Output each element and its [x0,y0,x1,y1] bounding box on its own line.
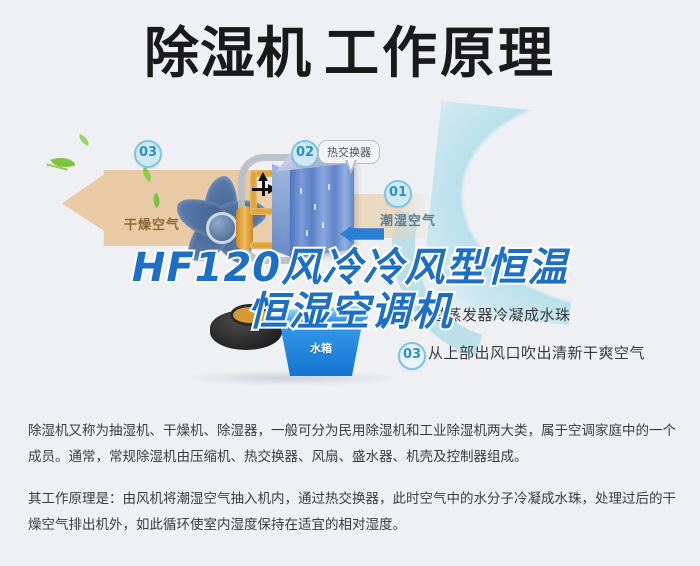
step-caption-02: 气经过蒸发器冷凝成水珠 [400,304,571,325]
description-paragraph-1: 除湿机又称为抽湿机、干燥机、除湿器，一般可分为民用除湿机和工业除湿机两大类，属于… [28,418,678,470]
page-root: 除湿机工作原理 干燥空气 潮湿空气 [0,0,700,566]
description-paragraph-1-wrap: 除湿机又称为抽湿机、干燥机、除湿器，一般可分为民用除湿机和工业除湿机两大类，属于… [28,418,678,470]
badge-02: 02 [291,140,319,168]
page-title-part-2: 工作原理 [324,21,556,85]
badge-01: 01 [384,180,412,208]
condensate-droplet [314,204,316,210]
humid-air-label: 潮湿空气 [380,210,436,229]
step-caption-03: 从上部出风口吹出清新干爽空气 [428,342,645,363]
leaf-icon [77,134,91,146]
condensate-droplet [300,188,302,194]
badge-03: 03 [134,140,162,168]
condensate-droplet [306,230,308,236]
callout-pointer-icon [345,160,357,174]
description-paragraph-2-wrap: 其工作原理是：由风机将潮湿空气抽入机内，通过热交换器，此时空气中的水分子冷凝成水… [28,486,678,538]
flow-arrow-stem [252,188,268,191]
fan-hub [206,212,238,244]
flow-arrow-up-icon [258,172,268,181]
dehumidifier-diagram: 干燥空气 潮湿空气 [0,118,700,408]
badge-03-step: 03 [398,342,426,370]
page-title: 除湿机工作原理 [0,26,700,81]
page-title-part-1: 除湿机 [144,21,312,85]
compressor-top-coil [230,304,270,326]
condensate-droplet [328,184,330,190]
water-tank-label: 水箱 [310,340,332,356]
description-paragraph-2: 其工作原理是：由风机将潮湿空气抽入机内，通过热交换器，此时空气中的水分子冷凝成水… [28,486,678,538]
condensate-droplet [322,222,324,228]
